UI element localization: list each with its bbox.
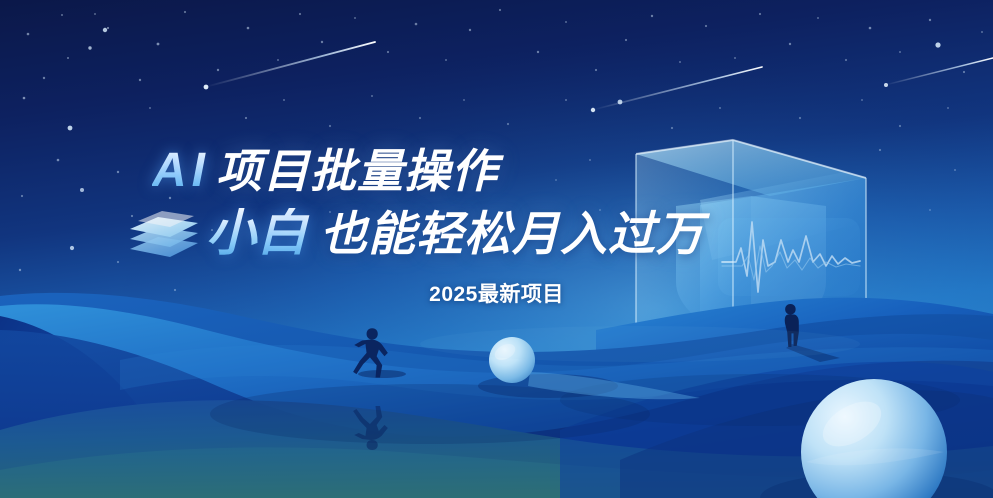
- ground-mist: [420, 326, 860, 362]
- scene-illustration: [0, 0, 993, 498]
- runner-shadow: [358, 370, 406, 378]
- promo-banner: AI 项目批量操作 小白 也能轻松月入过万 2025最新项目: [0, 0, 993, 498]
